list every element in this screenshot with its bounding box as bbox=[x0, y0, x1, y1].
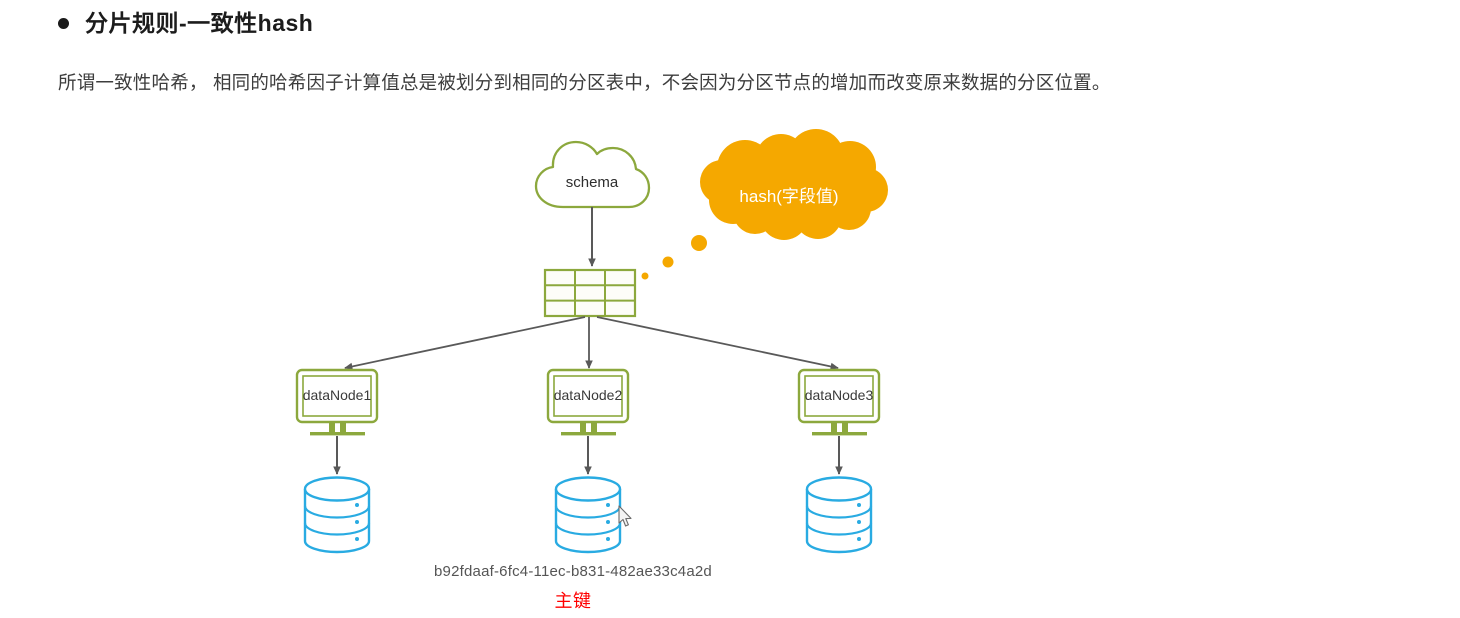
datanode-1[interactable]: dataNode1 bbox=[297, 370, 377, 435]
thought-cloud-icon bbox=[700, 129, 888, 240]
bubble-dot-large bbox=[691, 235, 707, 251]
datanode-3-label: dataNode3 bbox=[805, 387, 874, 403]
datanode-3[interactable]: dataNode3 bbox=[799, 370, 879, 435]
table-grid-icon[interactable] bbox=[545, 270, 635, 316]
database-cylinder-icon bbox=[556, 478, 620, 553]
database-cylinder-icon bbox=[305, 478, 369, 553]
database-2[interactable] bbox=[556, 478, 620, 553]
datanode-2[interactable]: dataNode2 bbox=[548, 370, 628, 435]
datanode-2-label: dataNode2 bbox=[554, 387, 623, 403]
hash-bubble-label: hash(字段值) bbox=[739, 187, 838, 206]
datanode-1-label: dataNode1 bbox=[303, 387, 372, 403]
consistent-hash-diagram: hash(字段值) schema bbox=[0, 0, 1460, 618]
bubble-dot-small bbox=[642, 273, 649, 280]
primary-key-caption: 主键 bbox=[0, 587, 1146, 613]
arrow-table-to-datanode3 bbox=[597, 317, 838, 368]
schema-node-label: schema bbox=[566, 174, 619, 191]
hash-bubble-group: hash(字段值) bbox=[642, 129, 889, 280]
database-1[interactable] bbox=[305, 478, 369, 553]
schema-node[interactable]: schema bbox=[536, 142, 649, 207]
database-cylinder-icon bbox=[807, 478, 871, 553]
uuid-caption: b92fdaaf-6fc4-11ec-b831-482ae33c4a2d bbox=[0, 563, 1146, 580]
arrow-table-to-datanode1 bbox=[345, 317, 585, 368]
bubble-dot-medium bbox=[663, 257, 674, 268]
database-3[interactable] bbox=[807, 478, 871, 553]
